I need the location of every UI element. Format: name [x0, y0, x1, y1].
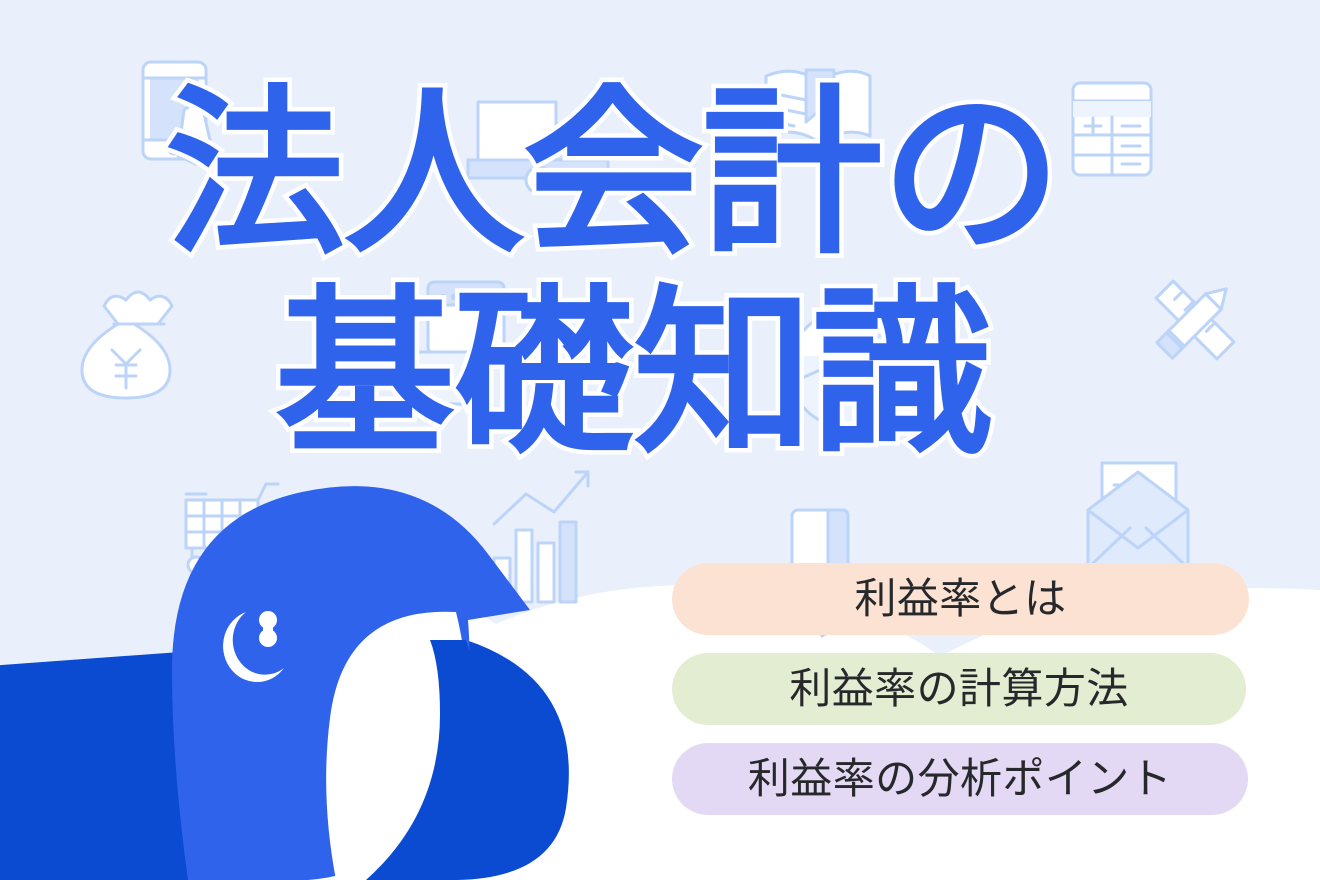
- topic-pill-1[interactable]: 利益率とは: [672, 563, 1249, 635]
- topic-pill-3[interactable]: 利益率の分析ポイント: [672, 743, 1248, 815]
- topic-pill-3-label: 利益率の分析ポイント: [748, 758, 1172, 800]
- headline-line-1: 法人会計の: [165, 85, 1061, 265]
- topic-pill-2-label: 利益率の計算方法: [789, 668, 1128, 710]
- banner-canvas: 法人会計の 基礎知識 利益率とは 利益率の計算方法 利益率の分析: [0, 0, 1320, 880]
- topic-pill-2[interactable]: 利益率の計算方法: [672, 653, 1246, 725]
- topic-list: 利益率とは 利益率の計算方法 利益率の分析ポイント: [672, 563, 1260, 815]
- headline-line-2: 基礎知識: [275, 285, 991, 465]
- topic-pill-1-label: 利益率とは: [854, 578, 1066, 620]
